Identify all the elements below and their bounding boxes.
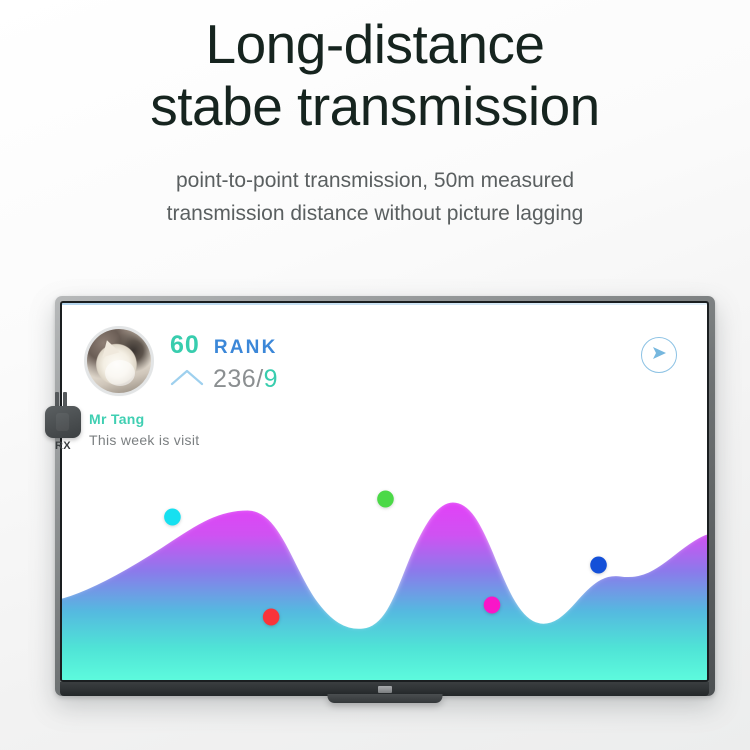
- chart-svg: [62, 445, 707, 680]
- tv-screen: 60 RANK 236/9 Mr Tang This week is visit: [62, 303, 707, 680]
- send-button[interactable]: [641, 337, 677, 373]
- score-accent: 9: [264, 365, 278, 393]
- score-value: 236/9: [213, 365, 278, 394]
- tv-frame: 60 RANK 236/9 Mr Tang This week is visit: [55, 296, 715, 696]
- page-subtitle: point-to-point transmission, 50m measure…: [0, 165, 750, 230]
- caret-up-icon: [170, 368, 204, 391]
- rank-label: RANK: [214, 337, 278, 359]
- app-header: 60 RANK 236/9 Mr Tang This week is visit: [62, 303, 707, 468]
- chart-area-fill: [62, 499, 707, 680]
- rx-receiver-dongle: RX: [33, 392, 93, 450]
- title-line-1: Long-distance: [0, 14, 750, 76]
- tv-stand: [328, 694, 443, 703]
- subtitle-line-2: transmission distance without picture la…: [0, 198, 750, 231]
- score-main: 236/: [213, 365, 264, 393]
- score-row: 236/9: [170, 365, 278, 394]
- television-device: 60 RANK 236/9 Mr Tang This week is visit: [55, 296, 715, 696]
- rank-number: 60: [170, 331, 200, 360]
- brand-logo-badge: [378, 686, 392, 693]
- hero-section: Long-distance stabe transmission point-t…: [0, 0, 750, 230]
- title-line-2: stabe transmission: [0, 76, 750, 138]
- subtitle-line-1: point-to-point transmission, 50m measure…: [0, 165, 750, 198]
- green-point[interactable]: [377, 491, 394, 508]
- blue-point[interactable]: [590, 557, 607, 574]
- red-point[interactable]: [263, 609, 280, 626]
- avatar[interactable]: [87, 329, 151, 393]
- user-name: Mr Tang: [89, 411, 145, 427]
- rx-body: [45, 406, 81, 438]
- rank-stat-row: 60 RANK: [170, 331, 278, 360]
- page-title: Long-distance stabe transmission: [0, 14, 750, 137]
- tv-screen-bezel: 60 RANK 236/9 Mr Tang This week is visit: [60, 301, 709, 682]
- activity-area-chart: [62, 445, 707, 680]
- rx-label: RX: [33, 440, 93, 452]
- cyan-point[interactable]: [164, 509, 181, 526]
- send-arrow-icon: [649, 343, 669, 368]
- magenta-point[interactable]: [484, 597, 501, 614]
